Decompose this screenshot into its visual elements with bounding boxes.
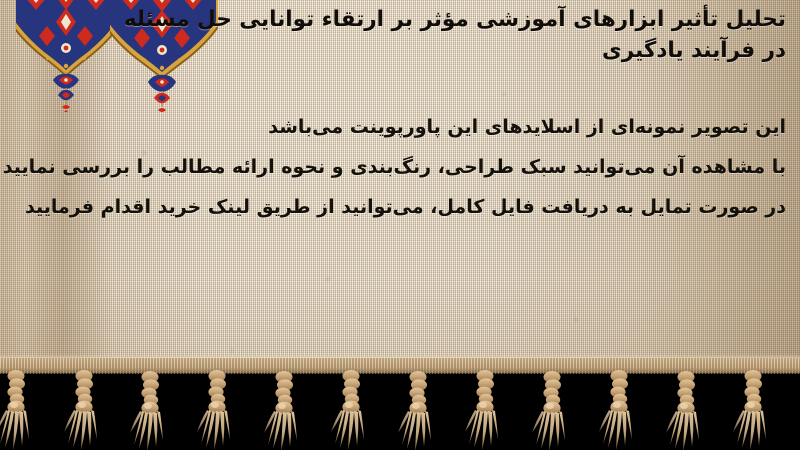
body-line-1: این تصویر نمونه‌ای از اسلایدهای این پاور… bbox=[86, 107, 786, 147]
slide-canvas: تحلیل تأثیر ابزارهای آموزشی مؤثر بر ارتق… bbox=[0, 0, 800, 450]
title-line-2: در فرآیند یادگیری bbox=[146, 35, 786, 66]
body-line-3: در صورت تمایل به دریافت فایل کامل، می‌تو… bbox=[86, 187, 786, 227]
carpet-knotted-fringe bbox=[0, 358, 800, 450]
page-title: تحلیل تأثیر ابزارهای آموزشی مؤثر بر ارتق… bbox=[146, 4, 786, 66]
slide-body-text: این تصویر نمونه‌ای از اسلایدهای این پاور… bbox=[86, 107, 786, 227]
title-line-1: تحلیل تأثیر ابزارهای آموزشی مؤثر بر ارتق… bbox=[146, 4, 786, 35]
body-line-2: با مشاهده آن می‌توانید سبک طراحی، رنگ‌بن… bbox=[86, 147, 786, 187]
